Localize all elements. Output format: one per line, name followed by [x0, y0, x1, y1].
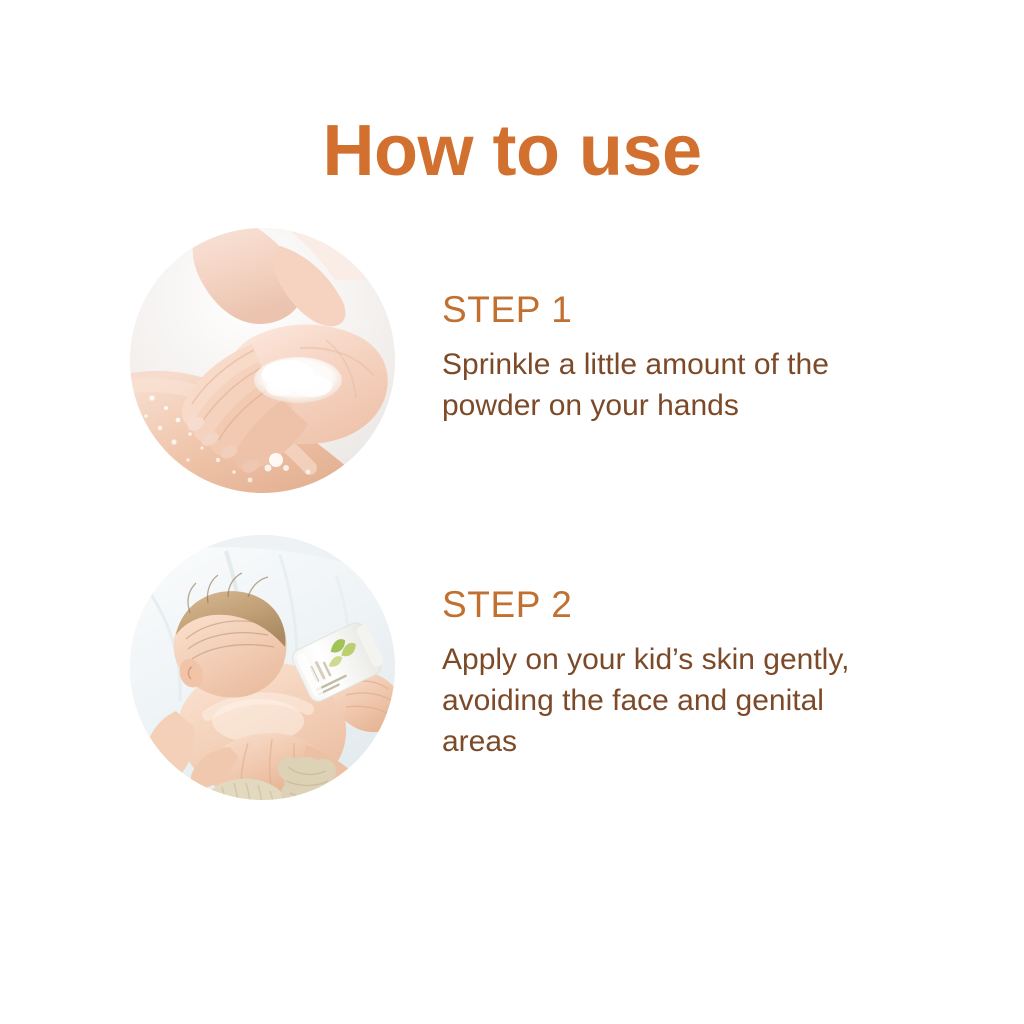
step-2-text-block: STEP 2 Apply on your kid’s skin gently, …	[442, 535, 1024, 762]
how-to-use-infographic: How to use	[0, 0, 1024, 1024]
page-title: How to use	[0, 108, 1024, 194]
step-2-image-slot	[130, 535, 395, 800]
hands-with-powder-photo	[130, 228, 395, 493]
step-1-description: Sprinkle a little amount of the powder o…	[442, 344, 872, 426]
step-2-description: Apply on your kid’s skin gently, avoidin…	[442, 639, 872, 762]
step-1-label: STEP 1	[442, 288, 1024, 332]
step-row-2: STEP 2 Apply on your kid’s skin gently, …	[0, 535, 1024, 800]
step-1-image-slot	[130, 228, 395, 493]
baby-powder-application-photo	[130, 535, 395, 800]
step-row-1: STEP 1 Sprinkle a little amount of the p…	[0, 228, 1024, 493]
step-2-label: STEP 2	[442, 583, 1024, 627]
step-1-text-block: STEP 1 Sprinkle a little amount of the p…	[442, 228, 1024, 426]
